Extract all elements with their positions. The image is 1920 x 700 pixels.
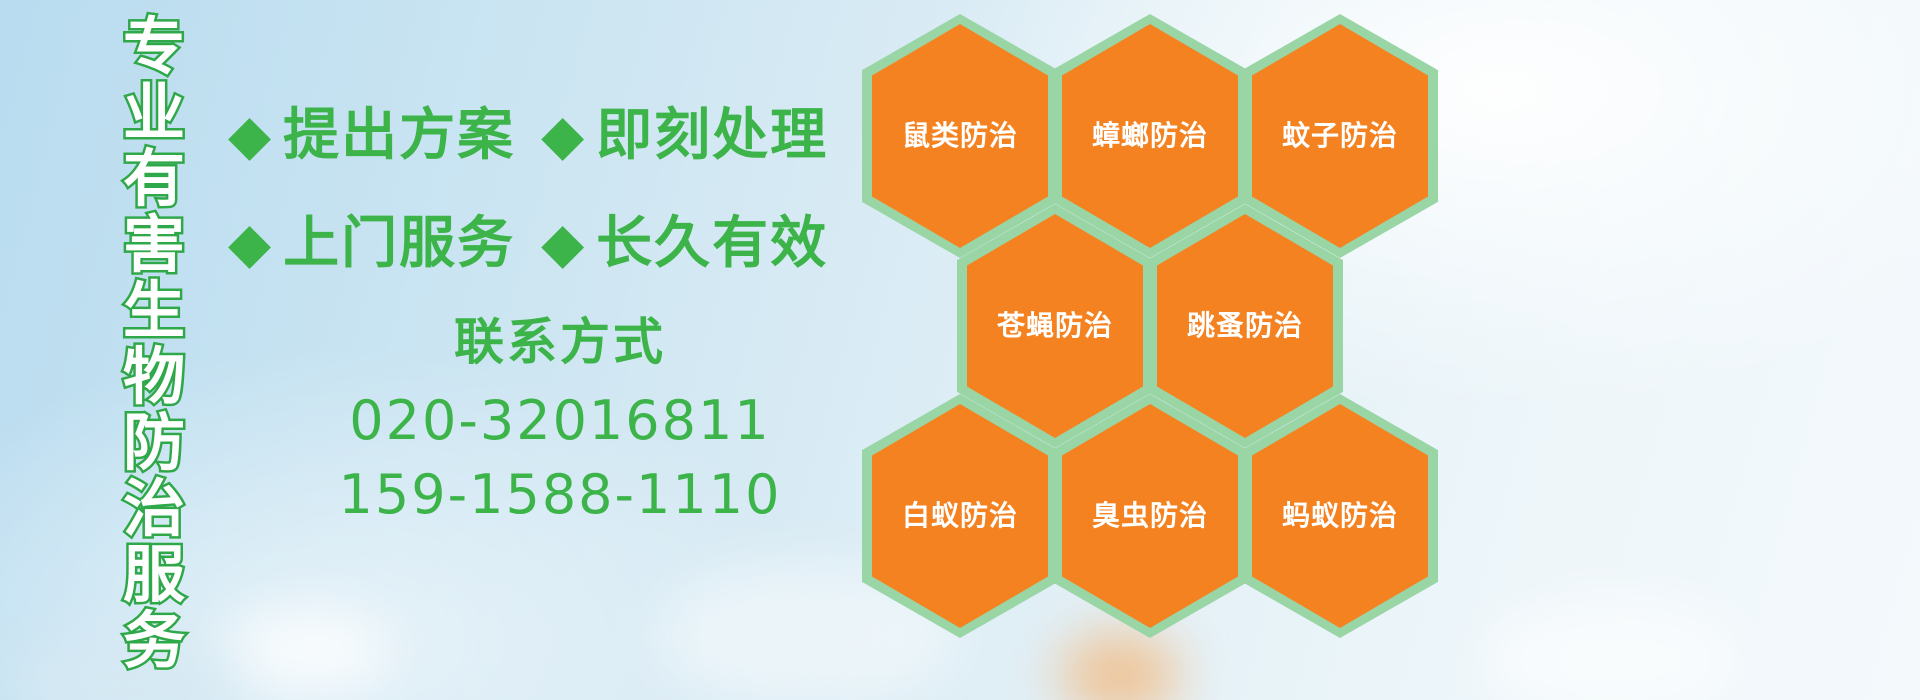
feature-label: 提出方案: [283, 106, 515, 166]
contact-block: 联系方式 020-32016811 159-1588-1110: [300, 312, 820, 532]
diamond-icon: ◆: [541, 108, 584, 164]
hex-inner: 白蚁防治: [872, 404, 1048, 628]
diamond-icon: ◆: [541, 216, 584, 272]
vertical-title-char: 害: [123, 212, 185, 278]
vertical-title: 专 业 有 害 生 物 防 治 服 务: [106, 14, 202, 686]
background-blur-blob: [1480, 600, 1740, 700]
hex-inner: 蟑螂防治: [1062, 24, 1238, 248]
vertical-title-char: 生: [123, 278, 185, 344]
diamond-icon: ◆: [228, 216, 271, 272]
vertical-title-char: 物: [123, 344, 185, 410]
service-hex-label: 蚊子防治: [1282, 120, 1398, 152]
hex-inner: 鼠类防治: [872, 24, 1048, 248]
feature-label: 即刻处理: [596, 106, 828, 166]
service-hex-label: 白蚁防治: [902, 500, 1018, 532]
feature-row: ◆ 提出方案 ◆ 即刻处理: [228, 82, 868, 190]
feature-item-long-lasting: ◆ 长久有效: [541, 214, 828, 274]
feature-item-immediate-handling: ◆ 即刻处理: [541, 106, 828, 166]
hex-inner: 跳蚤防治: [1157, 214, 1333, 438]
feature-list: ◆ 提出方案 ◆ 即刻处理 ◆ 上门服务 ◆ 长久有效: [228, 82, 868, 298]
feature-label: 上门服务: [283, 214, 515, 274]
vertical-title-char: 务: [123, 608, 185, 674]
service-hex-label: 跳蚤防治: [1187, 310, 1303, 342]
vertical-title-char: 防: [123, 410, 185, 476]
diamond-icon: ◆: [228, 108, 271, 164]
vertical-title-char: 专: [123, 14, 185, 80]
feature-item-onsite-service: ◆ 上门服务: [228, 214, 515, 274]
service-hex-label: 蟑螂防治: [1092, 120, 1208, 152]
feature-label: 长久有效: [596, 214, 828, 274]
vertical-title-char: 业: [123, 80, 185, 146]
contact-phone-landline[interactable]: 020-32016811: [300, 384, 820, 458]
feature-row: ◆ 上门服务 ◆ 长久有效: [228, 190, 868, 298]
service-hex-label: 苍蝇防治: [997, 310, 1113, 342]
vertical-title-char: 服: [123, 542, 185, 608]
hex-inner: 苍蝇防治: [967, 214, 1143, 438]
vertical-title-char: 治: [123, 476, 185, 542]
hex-inner: 蚂蚁防治: [1252, 404, 1428, 628]
pest-control-banner: 专 业 有 害 生 物 防 治 服 务 ◆ 提出方案 ◆ 即刻处理 ◆ 上门服务: [0, 0, 1920, 700]
service-hex-label: 蚂蚁防治: [1282, 500, 1398, 532]
service-hexagon-grid: 鼠类防治 蟑螂防治 蚊子防治 苍蝇防治 跳蚤防治 白蚁防治: [862, 0, 1462, 700]
feature-item-propose-plan: ◆ 提出方案: [228, 106, 515, 166]
contact-phone-mobile[interactable]: 159-1588-1110: [300, 458, 820, 532]
service-hex-label: 臭虫防治: [1092, 500, 1208, 532]
background-blur-blob: [220, 612, 390, 690]
vertical-title-char: 有: [123, 146, 185, 212]
service-hex-label: 鼠类防治: [902, 120, 1018, 152]
hex-inner: 蚊子防治: [1252, 24, 1428, 248]
hex-inner: 臭虫防治: [1062, 404, 1238, 628]
contact-title: 联系方式: [300, 312, 820, 372]
